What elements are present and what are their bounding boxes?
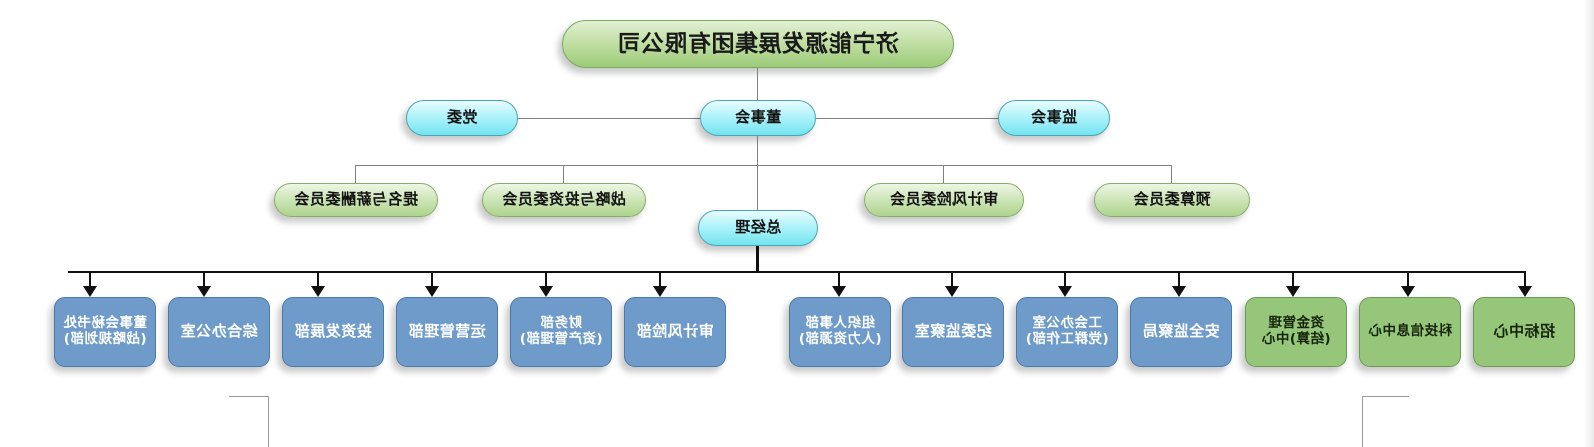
node-board-of-directors-label: 董事会 xyxy=(735,109,782,126)
arrow-dept-9 xyxy=(425,286,439,297)
node-department-11[interactable]: 综合办公室 xyxy=(168,297,270,367)
connector-committee-drop-3 xyxy=(563,165,564,183)
connector-gm-to-dept-bus xyxy=(756,246,759,272)
arrow-dept-0 xyxy=(1518,286,1532,297)
node-board-of-directors[interactable]: 董事会 xyxy=(700,100,816,136)
arrow-dept-5 xyxy=(945,286,959,297)
node-department-3[interactable]: 安全监察局 xyxy=(1130,297,1232,367)
arrow-dept-8 xyxy=(539,286,553,297)
node-department-5[interactable]: 纪委监察室 xyxy=(902,297,1004,367)
node-department-5-label: 纪委监察室 xyxy=(914,323,992,340)
node-general-manager-label: 总经理 xyxy=(735,219,782,236)
node-department-10[interactable]: 投资发展部 xyxy=(282,297,384,367)
node-department-7[interactable]: 审计风险部 xyxy=(624,297,726,367)
arrow-dept-7 xyxy=(653,286,667,297)
connector-committee-bus xyxy=(356,165,1172,166)
node-department-1[interactable]: 科技信息中心 xyxy=(1359,297,1461,367)
node-department-12-label: 董事会秘书处 (战略规划部) xyxy=(63,316,147,347)
node-department-9-label: 运营管理部 xyxy=(408,323,486,340)
connector-lower-bracket-right-v xyxy=(268,396,269,447)
arrow-dept-4 xyxy=(1058,286,1072,297)
connector-committee-drop-4 xyxy=(355,165,356,183)
arrow-dept-12 xyxy=(83,286,97,297)
node-committee-3[interactable]: 提名与薪酬委员会 xyxy=(274,183,438,217)
node-department-0[interactable]: 招标中心 xyxy=(1473,297,1575,367)
node-department-0-label: 招标中心 xyxy=(1493,323,1555,340)
node-committee-0[interactable]: 预算委员会 xyxy=(1094,183,1250,217)
node-department-9[interactable]: 运营管理部 xyxy=(396,297,498,367)
node-department-2[interactable]: 资金管理 (结算)中心 xyxy=(1245,297,1347,367)
arrow-dept-1 xyxy=(1401,286,1415,297)
node-department-8-label: 财务部 (资产管理部) xyxy=(519,316,602,347)
node-department-6[interactable]: 组织人事部 (人力资源部) xyxy=(789,297,891,367)
node-committee-2[interactable]: 战略与投资委员会 xyxy=(482,183,646,217)
node-board-of-supervisors-label: 监事会 xyxy=(1031,109,1078,126)
page-left-edge-shade xyxy=(1584,0,1594,447)
arrow-dept-2 xyxy=(1286,286,1300,297)
node-committee-1[interactable]: 审计风险委员会 xyxy=(864,183,1024,217)
node-committee-0-label: 预算委员会 xyxy=(1133,191,1211,208)
node-department-6-label: 组织人事部 (人力资源部) xyxy=(798,316,881,347)
org-chart-canvas: 济宁能源发展集团有限公司 监事会 董事会 党委 预算委员会 审计风险委员会 战略… xyxy=(0,0,1594,447)
node-department-4[interactable]: 工会办公室 (党群工作部) xyxy=(1016,297,1118,367)
node-department-7-label: 审计风险部 xyxy=(636,323,714,340)
node-department-10-label: 投资发展部 xyxy=(294,323,372,340)
node-committee-3-label: 提名与薪酬委员会 xyxy=(294,191,418,208)
node-department-1-label: 科技信息中心 xyxy=(1368,324,1452,340)
node-department-12[interactable]: 董事会秘书处 (战略规划部) xyxy=(54,297,156,367)
connector-department-bus xyxy=(68,271,1526,273)
connector-lower-bracket-left-v xyxy=(1362,396,1363,447)
connector-committee-drop-2 xyxy=(943,165,944,183)
node-committee-2-label: 战略与投资委员会 xyxy=(502,191,626,208)
arrow-dept-10 xyxy=(311,286,325,297)
node-department-4-label: 工会办公室 (党群工作部) xyxy=(1025,316,1108,347)
node-company-root-label: 济宁能源发展集团有限公司 xyxy=(617,31,899,57)
arrow-dept-11 xyxy=(197,286,211,297)
connector-lower-bracket-left-h xyxy=(1363,396,1409,397)
arrow-dept-3 xyxy=(1172,286,1186,297)
connector-board-down xyxy=(757,136,758,218)
node-department-8[interactable]: 财务部 (资产管理部) xyxy=(510,297,612,367)
connector-committee-drop-1 xyxy=(1171,165,1172,183)
connector-lower-bracket-right-h xyxy=(229,396,269,397)
node-party-committee[interactable]: 党委 xyxy=(406,100,518,136)
node-department-2-label: 资金管理 (结算)中心 xyxy=(1261,316,1330,347)
connector-root-to-board xyxy=(757,68,758,100)
node-department-11-label: 综合办公室 xyxy=(180,323,258,340)
node-board-of-supervisors[interactable]: 监事会 xyxy=(998,100,1110,136)
node-party-committee-label: 党委 xyxy=(447,109,478,126)
node-general-manager[interactable]: 总经理 xyxy=(698,210,818,246)
node-company-root[interactable]: 济宁能源发展集团有限公司 xyxy=(562,20,954,68)
arrow-dept-6 xyxy=(832,286,846,297)
node-committee-1-label: 审计风险委员会 xyxy=(890,191,999,208)
node-department-3-label: 安全监察局 xyxy=(1142,323,1220,340)
